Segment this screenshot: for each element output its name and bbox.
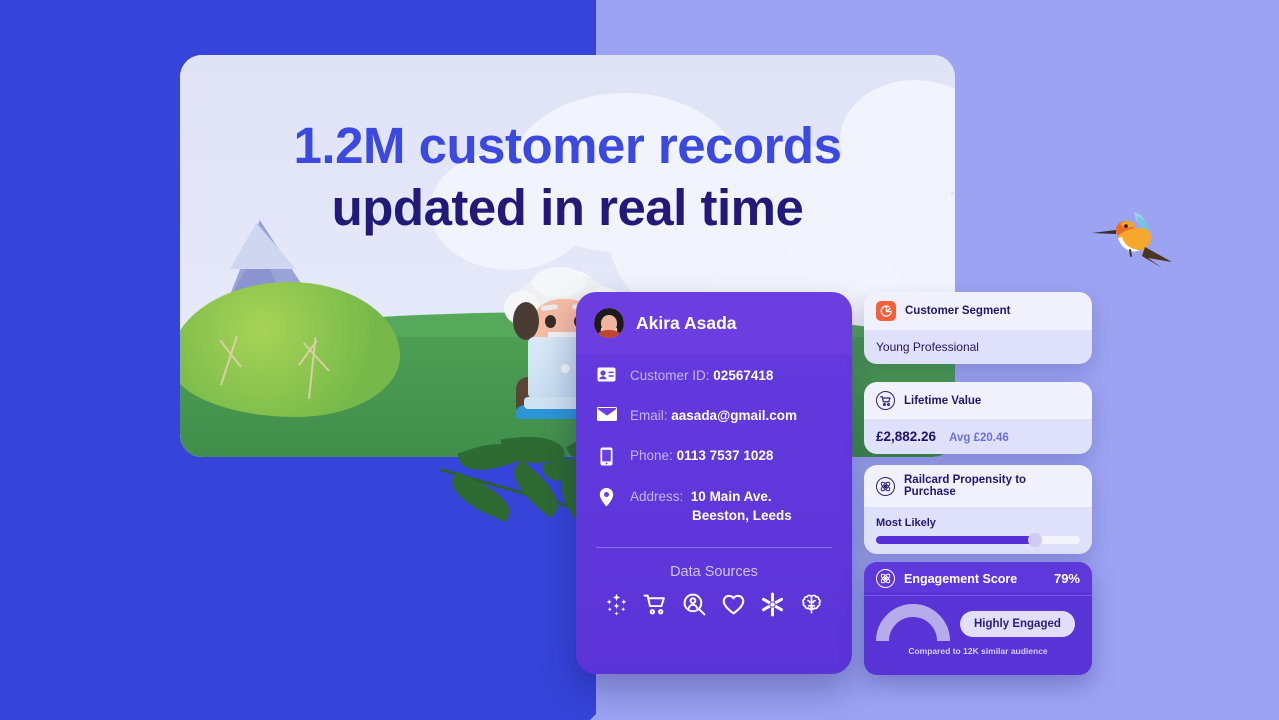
pie-chart-icon	[876, 301, 896, 321]
field-value: aasada@gmail.com	[671, 408, 797, 423]
person-search-icon[interactable]	[682, 592, 707, 622]
avatar	[594, 308, 624, 338]
atom-circle-icon	[876, 477, 895, 496]
card-title: Customer Segment	[905, 305, 1010, 317]
profile-header: Akira Asada	[576, 292, 852, 354]
id-card-icon	[596, 366, 617, 382]
field-email: Email: aasada@gmail.com	[596, 406, 832, 425]
field-label: Phone:	[630, 448, 673, 463]
lifetime-value-average: Avg £20.46	[949, 432, 1009, 444]
field-customer-id: Customer ID: 02567418	[596, 366, 832, 385]
card-body: £2,882.26 Avg £20.46	[864, 419, 1092, 454]
card-title: Lifetime Value	[904, 395, 981, 407]
data-sources-icons	[576, 592, 852, 622]
card-header: Railcard Propensity to Purchase	[864, 465, 1092, 507]
card-body: Most Likely	[864, 507, 1092, 554]
customer-name: Akira Asada	[636, 313, 737, 334]
eye	[545, 315, 556, 328]
headline-line-2: updated in real time	[180, 177, 955, 239]
field-text: Email: aasada@gmail.com	[630, 406, 797, 425]
card-title: Engagement Score	[904, 572, 1017, 586]
engagement-badge: Highly Engaged	[960, 611, 1075, 637]
heart-icon[interactable]	[721, 592, 746, 622]
envelope-icon	[596, 406, 617, 421]
snowflake-icon[interactable]	[760, 592, 785, 622]
field-value: 02567418	[713, 368, 773, 383]
map-pin-icon	[596, 487, 617, 507]
slider-fill	[876, 536, 1035, 544]
headphone-earcup	[513, 302, 539, 340]
data-sources-title: Data Sources	[576, 564, 852, 580]
railcard-propensity-card[interactable]: Railcard Propensity to Purchase Most Lik…	[864, 465, 1092, 554]
propensity-level-label: Most Likely	[876, 517, 1080, 529]
field-value-line2: Beeston, Leeds	[692, 506, 792, 525]
segment-value: Young Professional	[876, 340, 1080, 354]
divider	[596, 547, 832, 548]
field-label: Address:	[630, 489, 683, 504]
field-value: 10 Main Ave.	[691, 487, 772, 506]
mobile-phone-icon	[596, 446, 617, 466]
shopping-cart-circle-icon	[876, 391, 895, 410]
field-text: Customer ID: 02567418	[630, 366, 773, 385]
field-text: Phone: 0113 7537 1028	[630, 446, 773, 465]
profile-fields: Customer ID: 02567418 Email: aasada@gmai…	[576, 354, 852, 526]
headline-line-1: 1.2M customer records	[180, 115, 955, 177]
hair-tuft	[532, 267, 586, 297]
engagement-percent: 79%	[1054, 571, 1080, 586]
field-address: Address: 10 Main Ave.Beeston, Leeds	[596, 487, 832, 525]
screenshot-stage: 1.2M customer records updated in real ti…	[0, 0, 1279, 720]
card-body: Highly Engaged	[864, 596, 1092, 644]
card-header: Customer Segment	[864, 292, 1092, 330]
laptop-logo	[561, 364, 570, 373]
field-label: Customer ID:	[630, 368, 710, 383]
hero-headline: 1.2M customer records updated in real ti…	[180, 115, 955, 239]
hummingbird-illustration	[1090, 200, 1180, 275]
card-title: Railcard Propensity to Purchase	[904, 474, 1080, 498]
atom-circle-icon	[876, 569, 895, 588]
engagement-score-card[interactable]: Engagement Score 79% Highly Engaged Comp…	[864, 562, 1092, 675]
lifetime-value-card[interactable]: Lifetime Value £2,882.26 Avg £20.46	[864, 382, 1092, 454]
sparkle-icon[interactable]	[604, 592, 629, 622]
field-value: 0113 7537 1028	[677, 448, 774, 463]
gauge-arc	[876, 604, 950, 675]
lifetime-value-row: £2,882.26 Avg £20.46	[876, 429, 1080, 444]
avatar-shoulders	[598, 330, 620, 338]
customer-segment-card[interactable]: Customer Segment Young Professional	[864, 292, 1092, 364]
card-header: Engagement Score 79%	[864, 562, 1092, 595]
customer-profile-card[interactable]: Akira Asada Customer ID: 02567418 Email:…	[576, 292, 852, 674]
brain-icon[interactable]	[799, 592, 824, 622]
field-label: Email:	[630, 408, 668, 423]
field-text: Address: 10 Main Ave.Beeston, Leeds	[630, 487, 792, 525]
card-body: Young Professional	[864, 330, 1092, 364]
propensity-slider[interactable]	[876, 536, 1080, 544]
engagement-gauge	[876, 604, 950, 644]
card-header: Lifetime Value	[864, 382, 1092, 419]
field-phone: Phone: 0113 7537 1028	[596, 446, 832, 466]
shopping-cart-icon[interactable]	[643, 592, 668, 622]
slider-knob[interactable]	[1028, 533, 1042, 547]
engagement-note: Compared to 12K similar audience	[864, 646, 1092, 656]
lifetime-value-amount: £2,882.26	[876, 429, 936, 444]
